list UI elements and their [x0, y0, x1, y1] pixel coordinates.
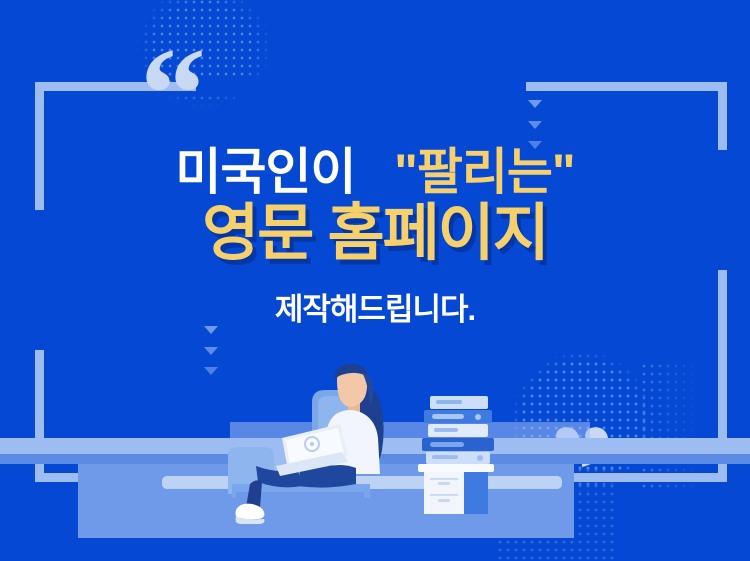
headline-line-2: 영문 홈페이지	[0, 202, 750, 266]
promo-banner: “ ” 미국인이 "팔리는" 영문 홈페이지 제작해드립니다.	[0, 0, 750, 561]
headline-block: 미국인이 "팔리는" 영문 홈페이지 제작해드립니다.	[0, 0, 750, 329]
headline-subtitle: 제작해드립니다.	[0, 284, 750, 329]
stacked-books	[422, 396, 494, 464]
illustration-woman-working	[0, 360, 750, 561]
headline-line-1: 미국인이 "팔리는"	[0, 146, 750, 198]
triangle-left-2	[204, 347, 218, 355]
headline-line-1-yellow: "팔리는"	[394, 144, 574, 200]
headline-line-1-white: 미국인이	[175, 144, 355, 200]
